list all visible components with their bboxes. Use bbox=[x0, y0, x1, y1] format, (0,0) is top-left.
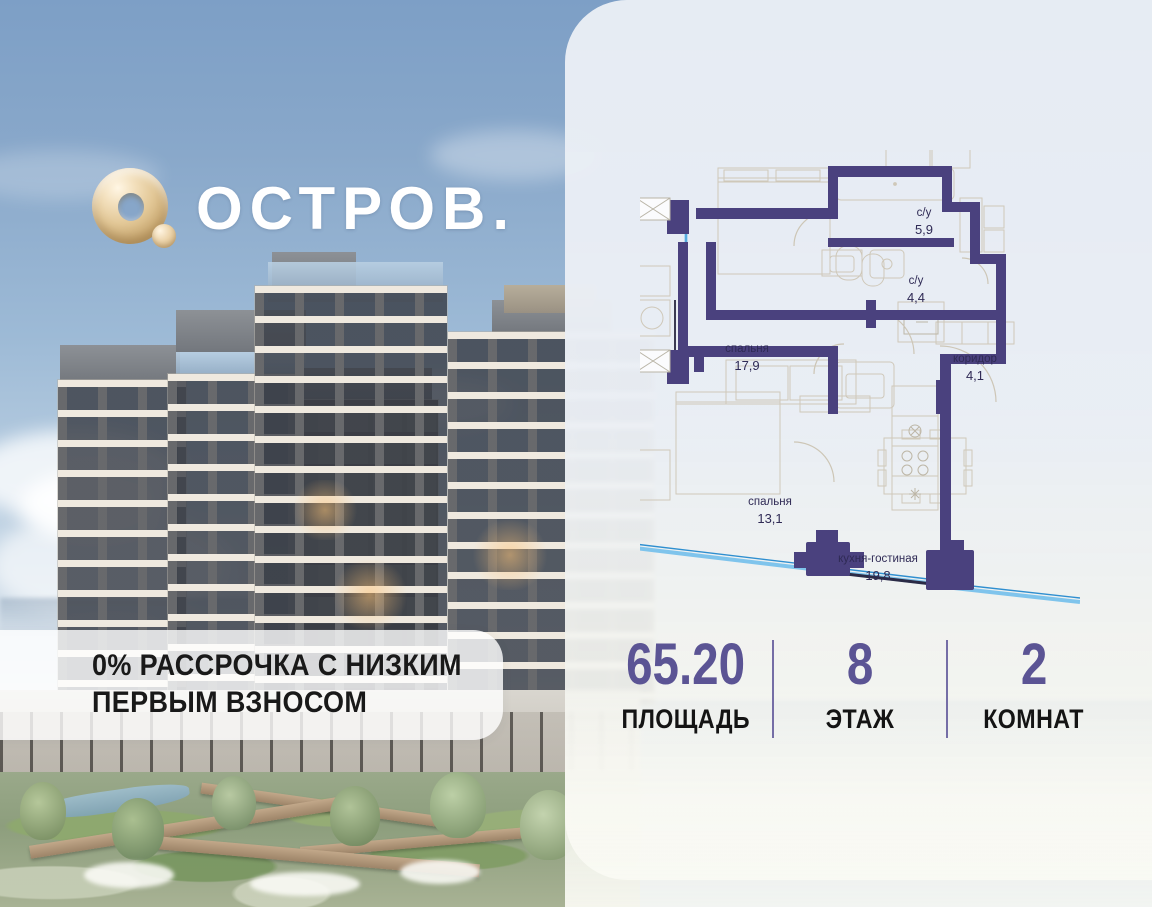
promo-badge: 0% РАССРОЧКА С НИЗКИМ ПЕРВЫМ ВЗНОСОМ bbox=[0, 630, 503, 740]
tree bbox=[20, 782, 66, 840]
room-label-area: 4,4 bbox=[907, 290, 925, 305]
room-label-area: 13,1 bbox=[757, 511, 782, 526]
stat-area: 65.20 ПЛОЩАДЬ bbox=[600, 636, 772, 746]
stat-floor: 8 ЭТАЖ bbox=[774, 636, 946, 746]
stat-value: 65.20 bbox=[626, 636, 745, 694]
promo-text: 0% РАССРОЧКА С НИЗКИМ ПЕРВЫМ ВЗНОСОМ bbox=[92, 648, 462, 721]
roof-structure bbox=[60, 345, 180, 383]
window-glow bbox=[470, 520, 550, 590]
room-label-name: с/у bbox=[909, 275, 924, 287]
tree bbox=[112, 798, 164, 860]
room-label-name: с/у bbox=[917, 207, 932, 219]
brand-logo[interactable]: ОСТРОВ. bbox=[92, 168, 516, 250]
window-glow bbox=[330, 560, 410, 630]
room-label-area: 4,1 bbox=[966, 368, 984, 383]
flower-bed bbox=[250, 872, 360, 896]
marketing-card: с/у 5,9 с/у 4,4 коридор 4,1 спальня 17,9… bbox=[0, 0, 1152, 907]
room-label-area: 17,9 bbox=[734, 358, 759, 373]
stat-value: 2 bbox=[1021, 636, 1047, 694]
stat-label: КОМНАТ bbox=[984, 706, 1085, 733]
torus-logo-icon bbox=[92, 168, 174, 250]
stat-value: 8 bbox=[847, 636, 873, 694]
stats-row: 65.20 ПЛОЩАДЬ 8 ЭТАЖ 2 КОМНАТ bbox=[600, 636, 1120, 746]
room-label-name: спальня bbox=[725, 343, 769, 355]
stat-label: ПЛОЩАДЬ bbox=[622, 706, 751, 733]
floor-plan-drawing: с/у 5,9 с/у 4,4 коридор 4,1 спальня 17,9… bbox=[640, 150, 1080, 610]
kitchen-fixtures bbox=[902, 312, 938, 500]
window-glow bbox=[290, 480, 360, 540]
stat-divider bbox=[772, 640, 774, 738]
window-frames bbox=[640, 198, 670, 372]
room-label-name: спальня bbox=[748, 496, 792, 508]
room-labels: с/у 5,9 с/у 4,4 коридор 4,1 спальня 17,9… bbox=[725, 207, 997, 583]
room-label-name: кухня-гостиная bbox=[838, 553, 918, 565]
room-label-area: 5,9 bbox=[915, 222, 933, 237]
flower-bed bbox=[400, 860, 480, 884]
stat-divider bbox=[946, 640, 948, 738]
room-label-area: 19,8 bbox=[865, 568, 890, 583]
tree bbox=[330, 786, 380, 846]
brand-name: ОСТРОВ. bbox=[196, 179, 516, 239]
tree bbox=[212, 776, 256, 830]
room-label-name: коридор bbox=[953, 353, 997, 365]
stat-rooms: 2 КОМНАТ bbox=[948, 636, 1120, 746]
tree bbox=[430, 772, 486, 838]
flower-bed bbox=[84, 862, 174, 888]
stat-label: ЭТАЖ bbox=[826, 706, 895, 733]
